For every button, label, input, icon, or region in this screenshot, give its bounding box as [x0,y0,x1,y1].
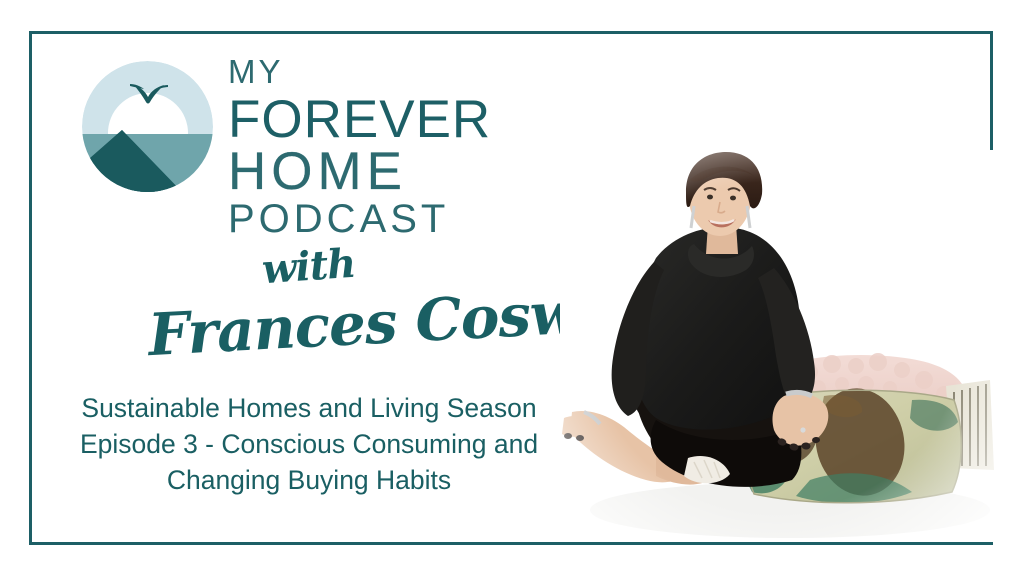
podcast-wordmark: MY FOREVER HOME PODCAST [228,55,558,243]
wordmark-line-forever: FOREVER [228,93,558,145]
episode-title: Sustainable Homes and Living Season Epis… [36,390,582,498]
episode-title-line-1: Sustainable Homes and Living Season [36,390,582,426]
episode-title-line-3: Changing Buying Habits [36,462,582,498]
host-photo [560,150,994,542]
episode-title-line-2: Episode 3 - Conscious Consuming and [36,426,582,462]
wordmark-line-podcast: PODCAST [228,199,558,243]
podcast-cover-artwork: MY FOREVER HOME PODCAST with Frances Cos… [0,0,1024,576]
wordmark-line-my: MY [228,55,558,91]
host-with-label: with [260,240,356,293]
sun-mountain-ocean-circle-logo [82,61,213,192]
wordmark-line-home: HOME [228,145,558,197]
